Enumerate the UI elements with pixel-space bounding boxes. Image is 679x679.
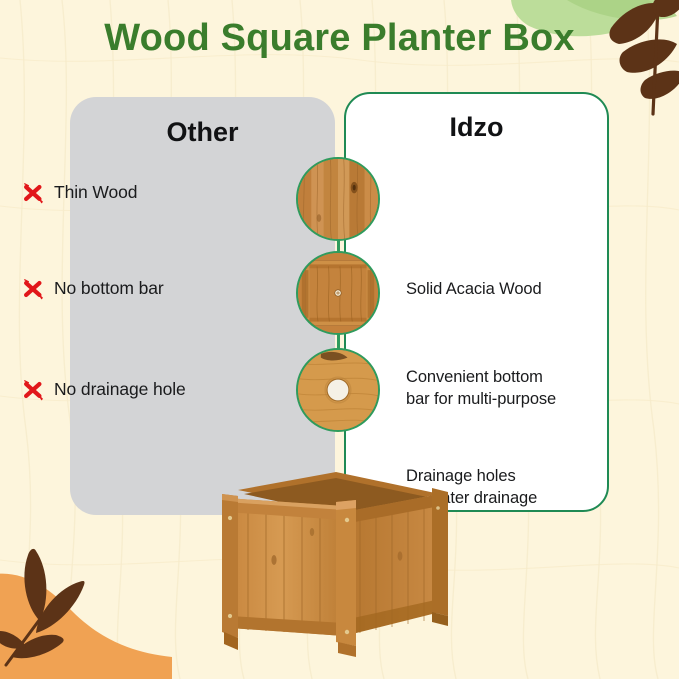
other-feature-row-1: No bottom bar [22,278,257,300]
red-x-icon [22,182,44,204]
panel-other: Other [70,97,335,515]
panel-brand-heading: Idzo [346,112,607,143]
page-title: Wood Square Planter Box [0,18,679,60]
other-feature-label-2: No drainage hole [54,379,186,401]
other-feature-label-0: Thin Wood [54,182,137,204]
red-x-icon [22,379,44,401]
other-feature-label-1: No bottom bar [54,278,164,300]
product-image-planter-box [204,460,460,660]
bottom-bar-closeup-circle [296,251,380,335]
red-x-icon [22,278,44,300]
brand-feature-label-0: Solid Acacia Wood [406,278,611,300]
drainage-hole-closeup-circle [296,348,380,432]
poster-canvas: Wood Square Planter Box Other Thin Wood [0,0,679,679]
panel-other-heading: Other [70,117,335,148]
other-feature-row-0: Thin Wood [22,182,257,204]
panel-brand: Idzo Solid Acacia Wood Convenient bottom… [344,92,609,512]
wood-grain-closeup-circle [296,157,380,241]
other-feature-row-2: No drainage hole [22,379,257,401]
brand-feature-label-1: Convenient bottom bar for multi-purpose [406,366,611,411]
decor-bottom-left-blob-and-leaves [0,515,172,679]
